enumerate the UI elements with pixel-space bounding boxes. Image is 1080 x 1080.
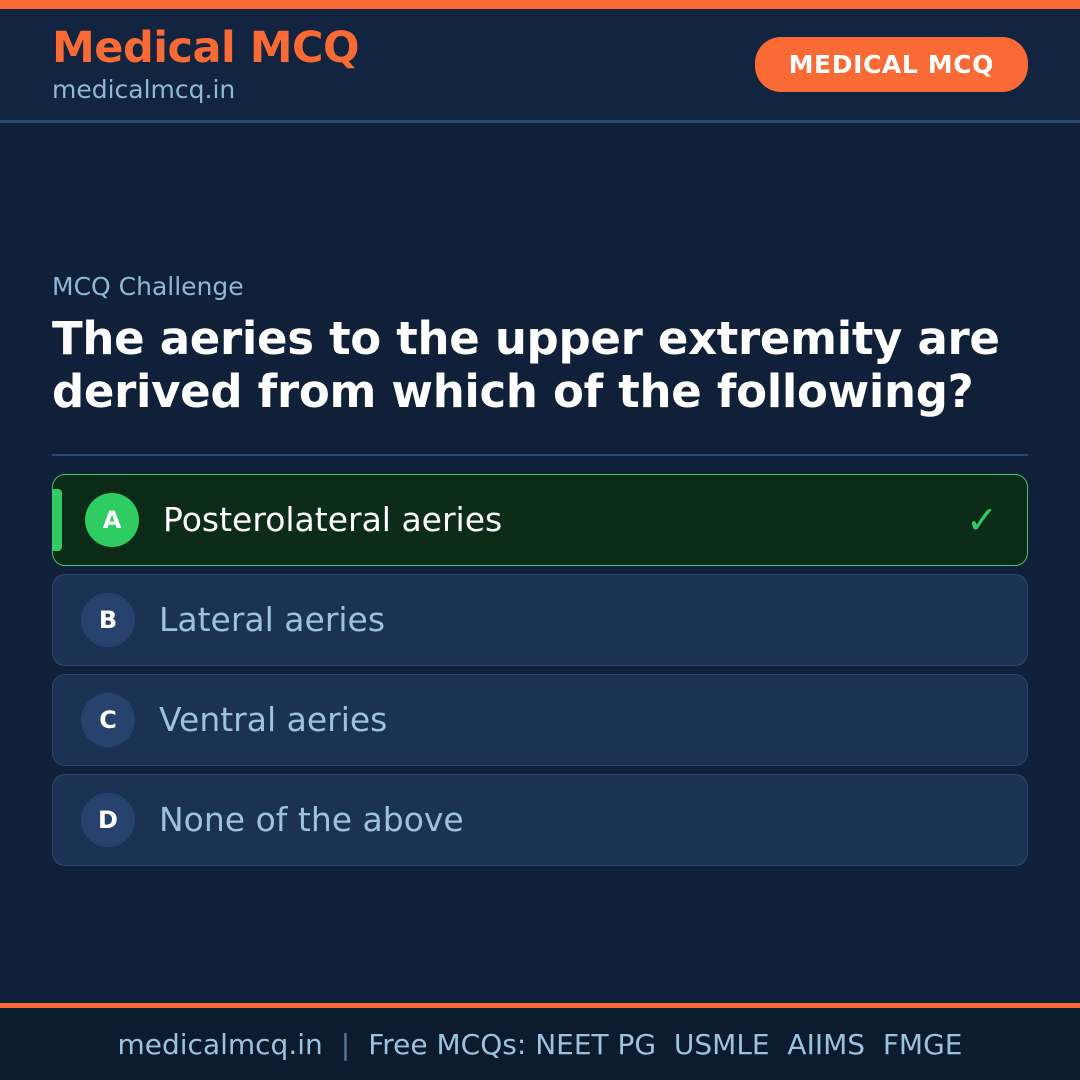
header: Medical MCQ medicalmcq.in MEDICAL MCQ: [0, 9, 1080, 123]
top-spacer: [52, 123, 1028, 271]
options-list: A Posterolateral aeries ✓ B Lateral aeri…: [52, 474, 1028, 866]
option-d-letter: D: [81, 793, 135, 847]
brand-title: Medical MCQ: [52, 24, 359, 72]
option-c-letter: C: [81, 693, 135, 747]
option-b-label: Lateral aeries: [159, 600, 965, 640]
question-text: The aeries to the upper extremity are de…: [52, 312, 1028, 418]
main-content: MCQ Challenge The aeries to the upper ex…: [0, 123, 1080, 1003]
option-b-letter: B: [81, 593, 135, 647]
option-a-letter: A: [85, 493, 139, 547]
section-divider: [52, 454, 1028, 456]
option-a[interactable]: A Posterolateral aeries ✓: [52, 474, 1028, 566]
option-c-label: Ventral aeries: [159, 700, 965, 740]
option-a-label: Posterolateral aeries: [163, 500, 965, 540]
option-c[interactable]: C Ventral aeries: [52, 674, 1028, 766]
header-badge: MEDICAL MCQ: [755, 37, 1028, 92]
option-d-label: None of the above: [159, 800, 965, 840]
option-b[interactable]: B Lateral aeries: [52, 574, 1028, 666]
footer-separator: |: [323, 1028, 368, 1061]
option-d[interactable]: D None of the above: [52, 774, 1028, 866]
footer-exams: Free MCQs: NEET PG USMLE AIIMS FMGE: [368, 1028, 962, 1061]
top-accent-bar: [0, 0, 1080, 9]
bottom-spacer: [52, 866, 1028, 902]
brand-subtitle: medicalmcq.in: [52, 75, 359, 105]
brand-block: Medical MCQ medicalmcq.in: [52, 24, 359, 105]
check-icon: ✓: [965, 501, 999, 539]
footer-site: medicalmcq.in: [118, 1028, 323, 1061]
footer: medicalmcq.in | Free MCQs: NEET PG USMLE…: [0, 1008, 1080, 1080]
mcq-card-page: Medical MCQ medicalmcq.in MEDICAL MCQ MC…: [0, 0, 1080, 1080]
eyebrow-label: MCQ Challenge: [52, 271, 1028, 303]
